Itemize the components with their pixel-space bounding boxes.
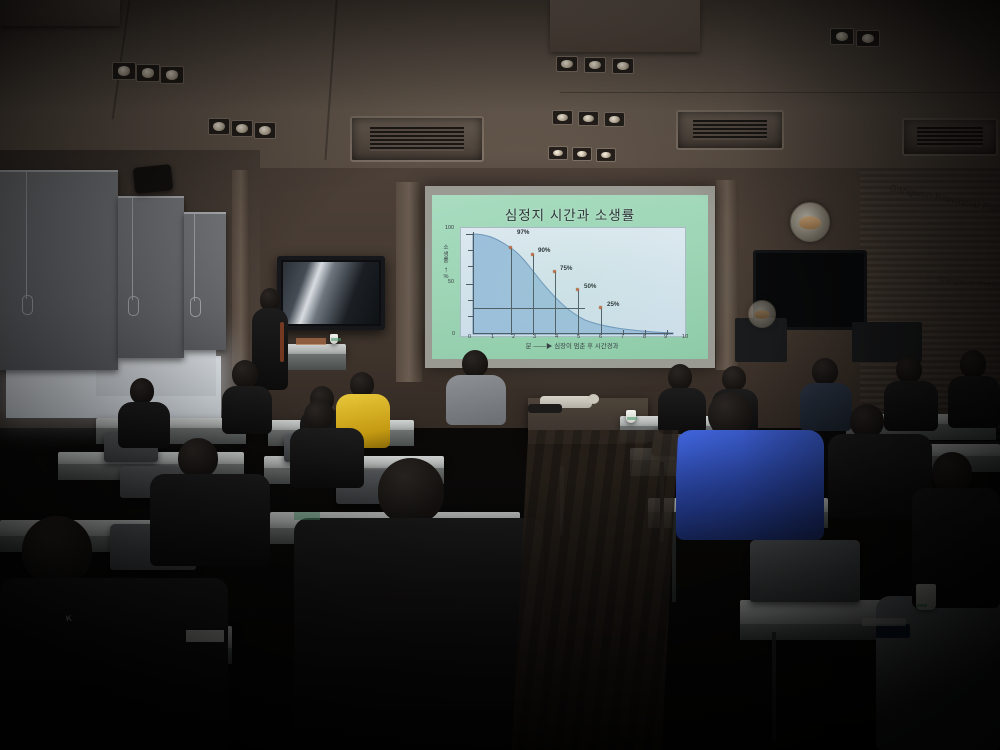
ceiling-downlight: [231, 120, 253, 137]
x-tick-7: 7: [621, 334, 624, 340]
data-stem-2: [533, 255, 534, 334]
blind-cord[interactable]: [132, 198, 133, 300]
y-axis-tick: [468, 316, 474, 317]
television-screen-image: [283, 262, 379, 324]
slide-content: 심정지 시간과 소생률 소생률 ↑ % 100 50 0: [432, 195, 708, 359]
ceiling-downlight: [208, 118, 230, 135]
reference-line-25: [473, 308, 585, 309]
ceiling-downlight: [556, 56, 578, 72]
attendee-head: [378, 458, 444, 524]
data-stem-4: [578, 290, 579, 334]
x-tick-1: 1: [491, 334, 494, 340]
attendee-head: [178, 438, 218, 478]
ceiling-downlight: [596, 148, 616, 162]
chart-y-axis-label: 소생률 ↑ %: [438, 245, 454, 280]
police-emblem: [790, 202, 830, 242]
attendee-head: [896, 356, 922, 383]
y-tick-50: 50: [448, 279, 454, 285]
paper-cup: [626, 410, 636, 423]
attendee-head: [130, 378, 154, 404]
ceiling-downlight: [548, 146, 568, 160]
attendee-head: [462, 350, 488, 377]
x-tick-9: 9: [664, 334, 667, 340]
ceiling-downlight: [112, 62, 136, 80]
y-tick-100: 100: [445, 225, 454, 231]
mannequin-legs: [528, 404, 562, 413]
data-label-4: 50%: [584, 283, 596, 290]
data-point-1: [509, 246, 512, 249]
y-axis-arrow-icon: ↑: [438, 265, 454, 274]
attendee-head: [960, 350, 986, 378]
ceiling-downlight: [578, 111, 599, 126]
ac-ceiling-vent: [902, 118, 998, 156]
ceiling-downlight: [584, 57, 606, 73]
attendee-torso: [800, 383, 852, 431]
attendee-torso: [446, 375, 506, 425]
ceiling-downlight: [160, 66, 184, 84]
ceiling-downlight: [856, 30, 880, 47]
x-tick-5: 5: [577, 334, 580, 340]
attendee-torso: [118, 402, 170, 448]
window-blind: [0, 170, 118, 370]
attendee-torso: [222, 386, 272, 434]
x-tick-0: 0: [468, 334, 471, 340]
x-tick-4: 4: [555, 334, 558, 340]
x-tick-6: 6: [599, 334, 602, 340]
attendee-torso: [676, 430, 824, 540]
y-tick-0: 0: [452, 331, 455, 337]
podium-emblem: [748, 300, 776, 328]
window-blind: [118, 196, 184, 358]
chart-x-axis-label: 분 ——▶ 심장이 멈춘 후 시간경과: [460, 341, 684, 350]
ac-ceiling-vent: [676, 110, 784, 150]
wall-pillar: [232, 170, 250, 380]
ac-ceiling-vent: [350, 116, 484, 162]
x-tick-3: 3: [533, 334, 536, 340]
classroom-photo: 심정지 시간과 소생률 소생률 ↑ % 100 50 0: [0, 0, 1000, 750]
chart-plot-area: [460, 227, 686, 337]
data-point-3: [553, 270, 556, 273]
data-point-2: [531, 253, 534, 256]
paper-sheet: [294, 512, 320, 520]
window-blind: [184, 212, 226, 350]
attendee-head: [668, 364, 692, 390]
ceiling-downlight: [612, 58, 634, 74]
x-tick-8: 8: [643, 334, 646, 340]
data-label-2: 90%: [538, 247, 550, 254]
front-wall-television: [277, 256, 385, 330]
attendee-head: [850, 404, 884, 438]
ceiling-downlight: [254, 122, 276, 139]
data-label-3: 75%: [560, 265, 572, 272]
y-axis-tick: [468, 300, 474, 301]
data-point-5: [599, 306, 602, 309]
attendee-head: [232, 360, 258, 388]
ceiling-downlight: [830, 28, 854, 45]
y-axis-tick: [466, 234, 474, 235]
ceiling-beam: [0, 0, 120, 26]
projection-screen: 심정지 시간과 소생률 소생률 ↑ % 100 50 0: [425, 186, 715, 368]
x-tick-2: 2: [512, 334, 515, 340]
ceiling-downlight: [572, 147, 592, 161]
blind-cord[interactable]: [194, 214, 195, 301]
survival-curve-area: [461, 228, 685, 336]
data-stem-1: [511, 248, 512, 334]
attendee-head: [932, 452, 972, 492]
blind-cord[interactable]: [26, 172, 27, 299]
ceiling-seam: [560, 92, 1000, 93]
y-axis-line: [473, 232, 474, 334]
ceiling-beam: [550, 0, 700, 52]
y-axis-tick: [466, 284, 474, 285]
attendee-torso: [658, 388, 706, 434]
attendee-head: [812, 358, 838, 385]
ceiling-downlight: [552, 110, 573, 125]
data-label-1: 97%: [517, 229, 529, 236]
ceiling-speaker: [133, 164, 174, 194]
data-label-5: 25%: [607, 301, 619, 308]
x-axis-tick: [667, 330, 668, 335]
data-stem-3: [555, 272, 556, 334]
table-front-panel: [286, 354, 346, 370]
y-axis-tick: [468, 266, 474, 267]
wall-pillar: [396, 182, 422, 382]
presenter-table: [286, 344, 346, 356]
attendee-torso: [948, 376, 1000, 428]
attendee-torso: [150, 474, 270, 566]
attendee-head: [304, 400, 334, 430]
ceiling-downlight: [136, 64, 160, 82]
table-items: [296, 338, 326, 345]
ceiling-downlight: [604, 112, 625, 127]
attendee-torso: [290, 428, 364, 488]
mannequin-head: [588, 394, 599, 404]
x-tick-10: 10: [682, 334, 688, 340]
data-point-4: [576, 288, 579, 291]
attendee-torso: [884, 381, 938, 431]
paper-cup: [330, 334, 338, 344]
slide-title: 심정지 시간과 소생률: [432, 204, 708, 224]
y-axis-tick: [468, 250, 474, 251]
presenter-lanyard: [280, 322, 284, 362]
aisle: [512, 430, 679, 750]
attendee-head: [722, 366, 746, 391]
